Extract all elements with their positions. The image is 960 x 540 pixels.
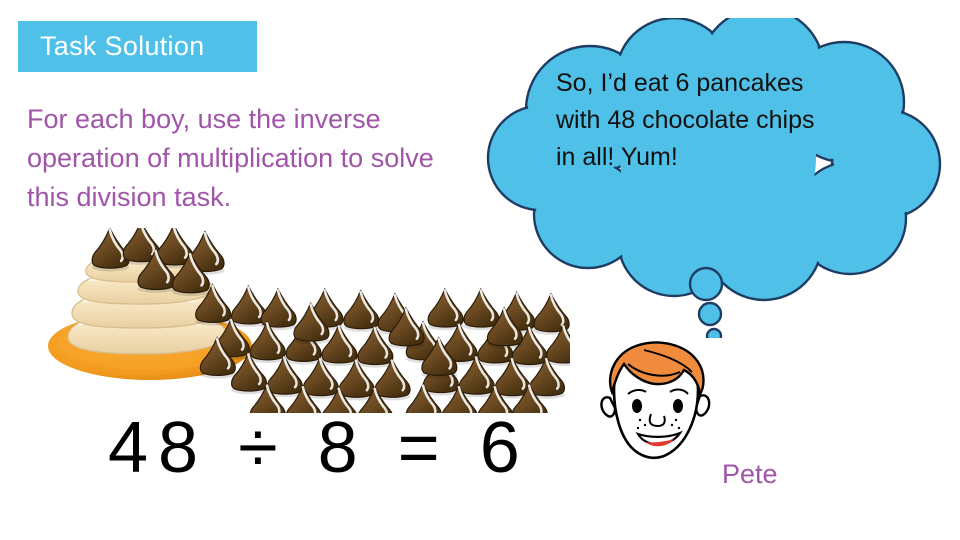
instruction-text: For each boy, use the inverse operation …	[27, 100, 457, 217]
pete-face-svg	[588, 336, 723, 471]
thought-bubble: So, I’d eat 6 pancakes with 48 chocolate…	[478, 18, 948, 338]
pete-eye-right	[673, 399, 683, 413]
thought-bubble-text: So, I’d eat 6 pancakes with 48 chocolate…	[556, 65, 828, 176]
title-banner: Task Solution	[18, 21, 257, 72]
pete-eye-left	[632, 399, 642, 413]
pete-face-illustration	[588, 336, 723, 471]
division-equation: 48 ÷ 8 = 6	[108, 412, 530, 484]
pete-name-label: Pete	[722, 461, 778, 488]
thought-bubble-tail	[690, 268, 722, 338]
slide-canvas: Task Solution For each boy, use the inve…	[0, 0, 960, 540]
page-title: Task Solution	[18, 33, 205, 60]
